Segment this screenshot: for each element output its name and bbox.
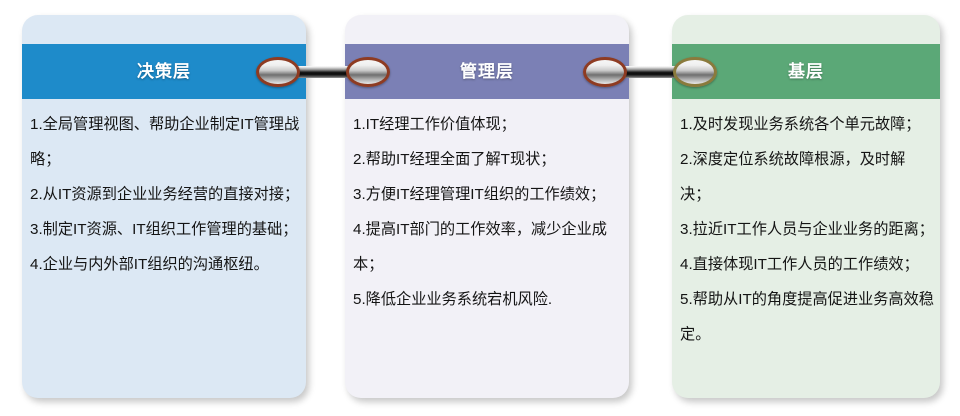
card-grassroots[interactable]: 基层 1.及时发现业务系统各个单元故障； 2.深度定位系统故障根源，及时解决； … bbox=[672, 15, 940, 398]
card-management-line-4: 4.提高IT部门的工作效率，减少企业成本； bbox=[353, 212, 623, 282]
card-management-line-5: 5.降低企业业务系统宕机风险. bbox=[353, 282, 623, 317]
diagram-canvas: 决策层 1.全局管理视图、帮助企业制定IT管理战略； 2.从IT资源到企业业务经… bbox=[0, 0, 960, 416]
card-decision-line-4: 4.企业与内外部IT组织的沟通枢纽。 bbox=[30, 247, 300, 282]
card-decision-body: 1.全局管理视图、帮助企业制定IT管理战略； 2.从IT资源到企业业务经营的直接… bbox=[22, 99, 306, 398]
card-management-line-1: 1.IT经理工作价值体现； bbox=[353, 107, 623, 142]
card-grassroots-line-4: 4.直接体现IT工作人员的工作绩效； bbox=[680, 247, 934, 282]
card-management-line-3: 3.方便IT经理管理IT组织的工作绩效； bbox=[353, 177, 623, 212]
card-decision[interactable]: 决策层 1.全局管理视图、帮助企业制定IT管理战略； 2.从IT资源到企业业务经… bbox=[22, 15, 306, 398]
card-grassroots-line-1: 1.及时发现业务系统各个单元故障； bbox=[680, 107, 934, 142]
card-management-header: 管理层 bbox=[345, 44, 629, 99]
card-decision-line-2: 2.从IT资源到企业业务经营的直接对接； bbox=[30, 177, 300, 212]
card-grassroots-header: 基层 bbox=[672, 44, 940, 99]
card-management-title: 管理层 bbox=[460, 63, 514, 80]
card-management-body: 1.IT经理工作价值体现； 2.帮助IT经理全面了解T现状； 3.方便IT经理管… bbox=[345, 99, 629, 398]
card-management[interactable]: 管理层 1.IT经理工作价值体现； 2.帮助IT经理全面了解T现状； 3.方便I… bbox=[345, 15, 629, 398]
card-decision-title: 决策层 bbox=[137, 63, 191, 80]
card-management-line-2: 2.帮助IT经理全面了解T现状； bbox=[353, 142, 623, 177]
card-grassroots-title: 基层 bbox=[788, 63, 824, 80]
card-grassroots-line-5: 5.帮助从IT的角度提高促进业务高效稳定。 bbox=[680, 282, 934, 352]
card-decision-line-1: 1.全局管理视图、帮助企业制定IT管理战略； bbox=[30, 107, 300, 177]
card-decision-header: 决策层 bbox=[22, 44, 306, 99]
card-grassroots-line-2: 2.深度定位系统故障根源，及时解决； bbox=[680, 142, 934, 212]
card-grassroots-line-3: 3.拉近IT工作人员与企业业务的距离； bbox=[680, 212, 934, 247]
card-grassroots-body: 1.及时发现业务系统各个单元故障； 2.深度定位系统故障根源，及时解决； 3.拉… bbox=[672, 99, 940, 398]
card-decision-line-3: 3.制定IT资源、IT组织工作管理的基础； bbox=[30, 212, 300, 247]
